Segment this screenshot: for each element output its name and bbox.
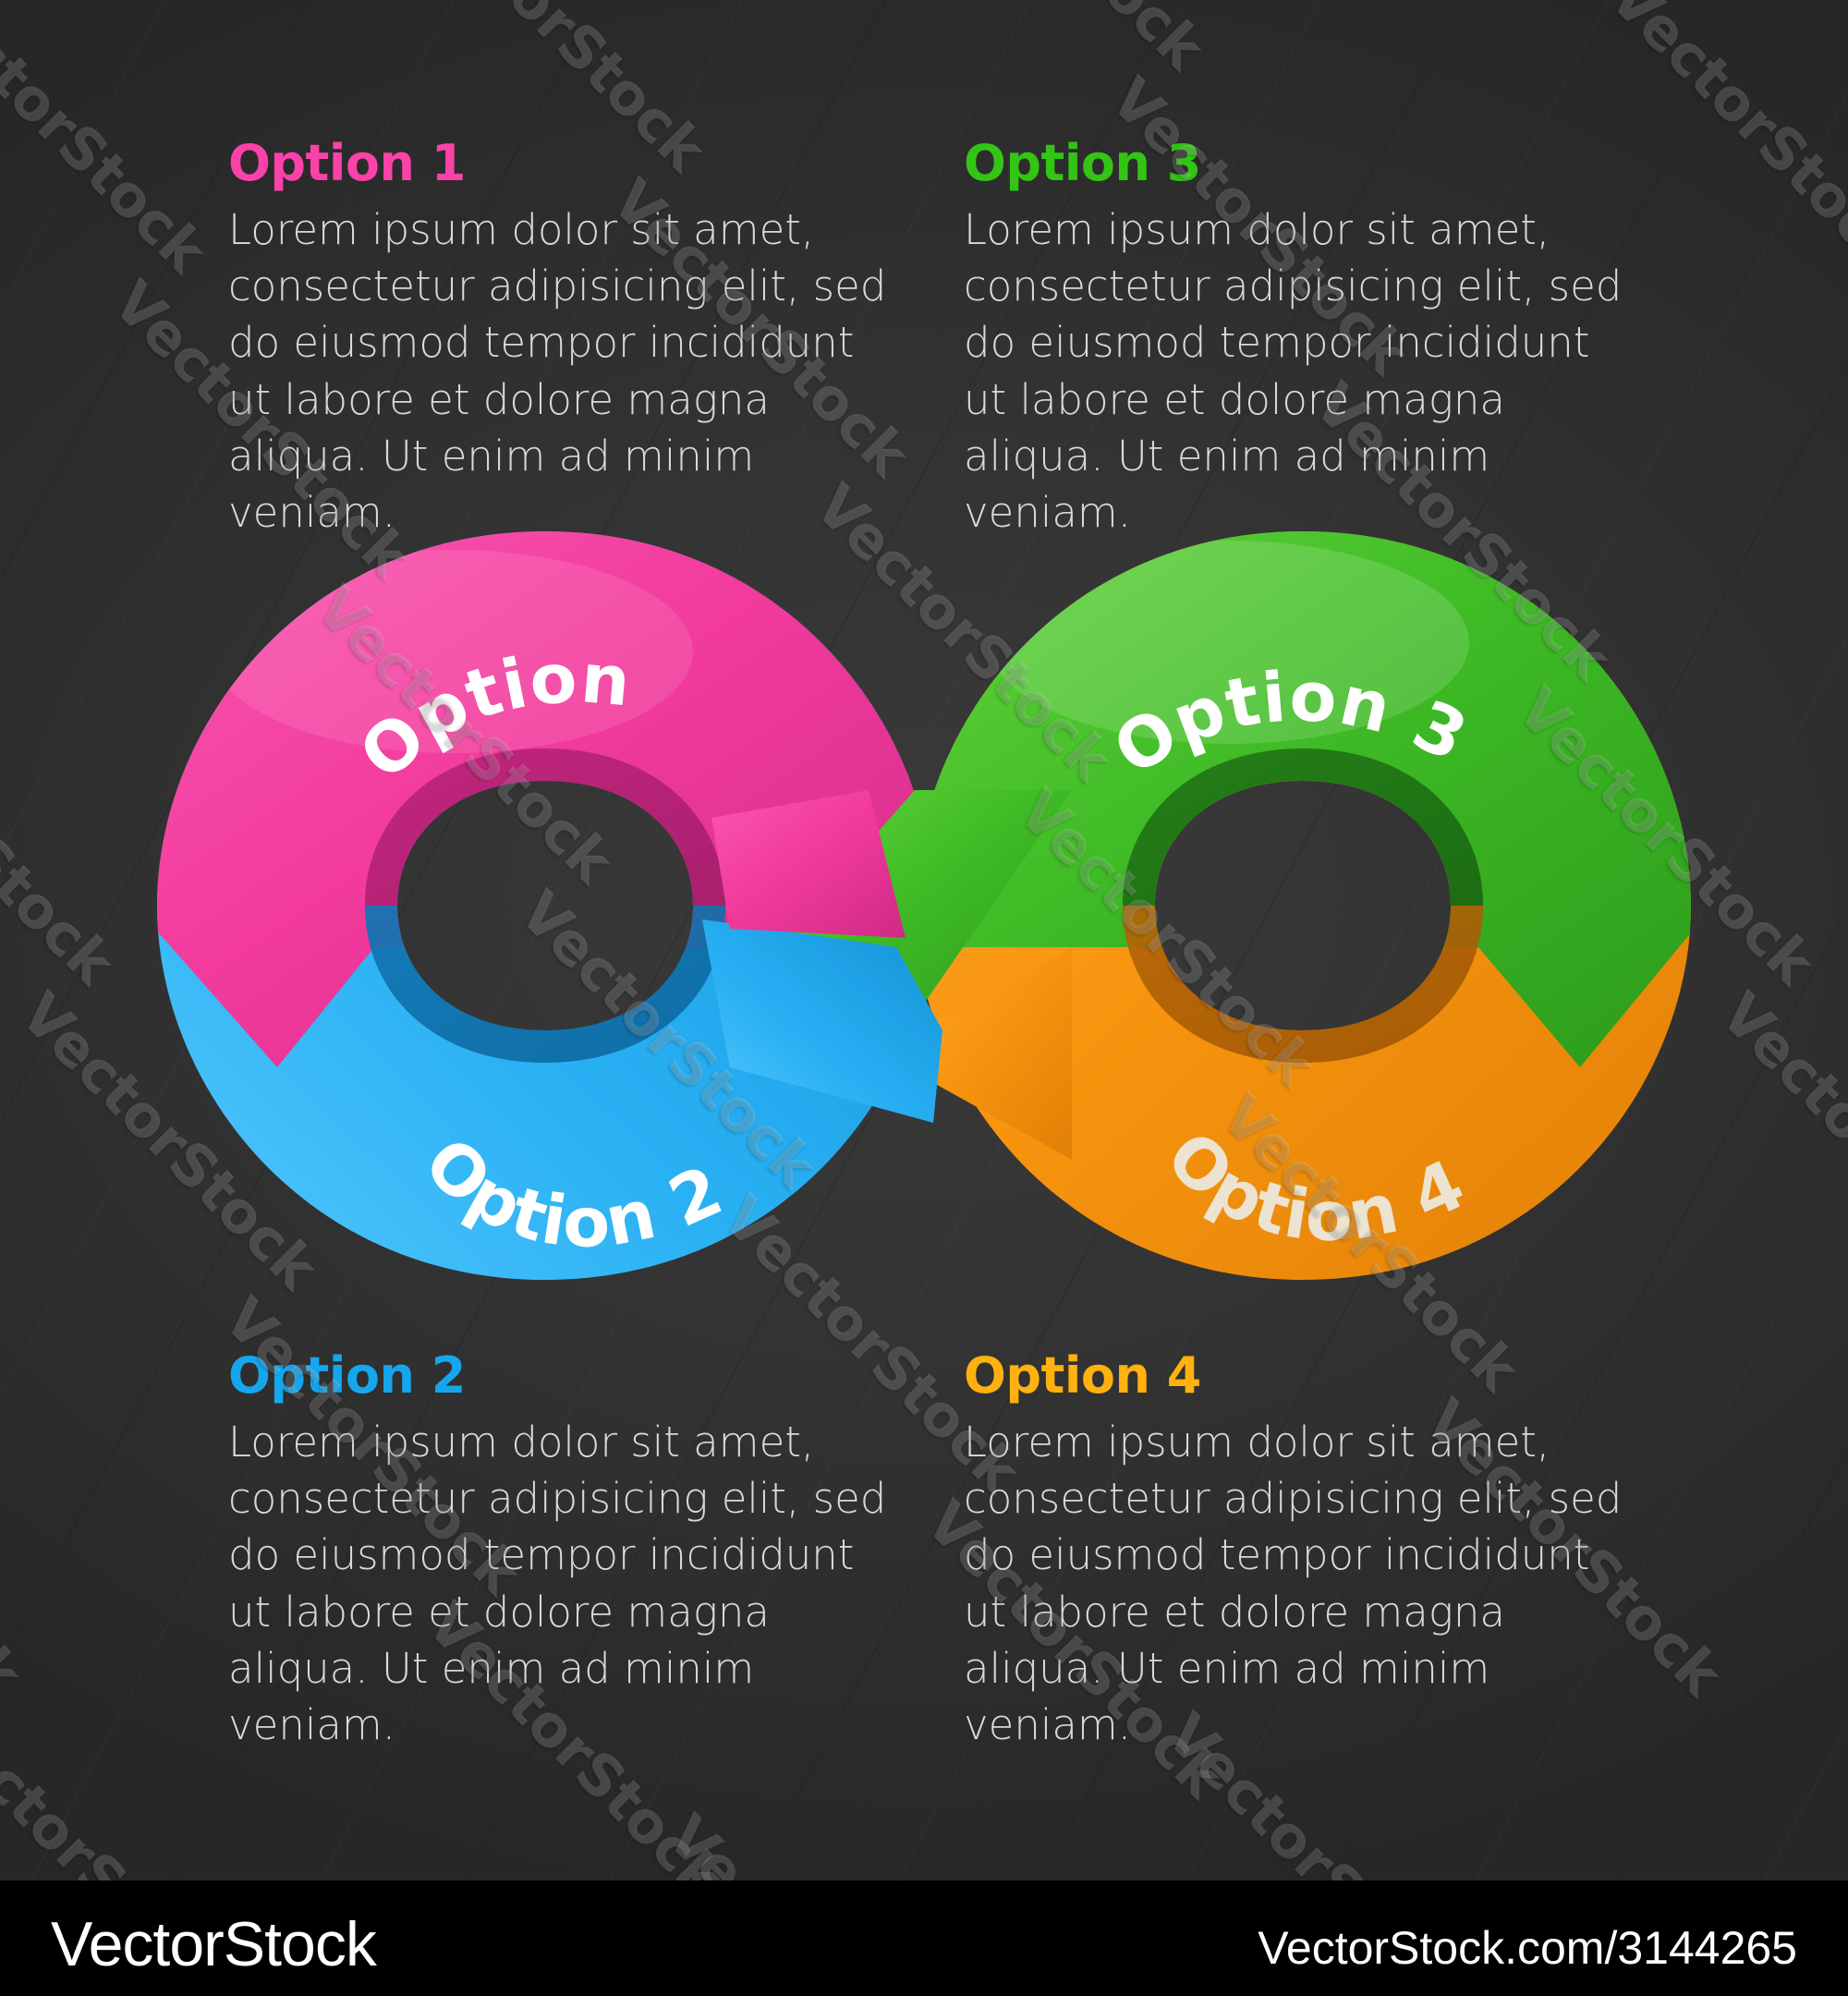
artwork-canvas: Option 1 Option 3 Option 2 Option 4 Opti… xyxy=(0,0,1848,1996)
watermark-text: VectorStock xyxy=(1597,0,1848,286)
option-4-text-block: Option 4 Lorem ipsum dolor sit amet, con… xyxy=(964,1351,1629,1753)
option-2-heading: Option 2 xyxy=(228,1351,894,1401)
option-4-heading: Option 4 xyxy=(964,1351,1629,1401)
watermark-text: VectorStock xyxy=(0,1386,35,1709)
vectorstock-logo: VectorStock xyxy=(51,1908,376,1980)
option-3-text-block: Option 3 Lorem ipsum dolor sit amet, con… xyxy=(964,139,1629,541)
option-1-heading: Option 1 xyxy=(228,139,894,189)
watermark-text: VectorStock xyxy=(894,0,1217,82)
vectorstock-url[interactable]: VectorStock.com/3144265 xyxy=(1258,1921,1797,1975)
footer-bar: VectorStock VectorStock.com/3144265 xyxy=(0,1880,1848,1996)
option-2-body: Lorem ipsum dolor sit amet, consectetur … xyxy=(228,1414,894,1753)
option-3-body: Lorem ipsum dolor sit amet, consectetur … xyxy=(964,201,1629,541)
infinity-loop-diagram: Option 1 Option 3 Option 2 Option 4 xyxy=(139,513,1709,1298)
watermark-text: VectorStock xyxy=(0,0,220,286)
option-4-body: Lorem ipsum dolor sit amet, consectetur … xyxy=(964,1414,1629,1753)
option-1-body: Lorem ipsum dolor sit amet, consectetur … xyxy=(228,201,894,541)
option-2-text-block: Option 2 Lorem ipsum dolor sit amet, con… xyxy=(228,1351,894,1753)
watermark-text: VectorStock xyxy=(1708,980,1848,1302)
watermark-text: VectorStock xyxy=(0,675,128,997)
option-3-heading: Option 3 xyxy=(964,139,1629,189)
option-1-text-block: Option 1 Lorem ipsum dolor sit amet, con… xyxy=(228,139,894,541)
